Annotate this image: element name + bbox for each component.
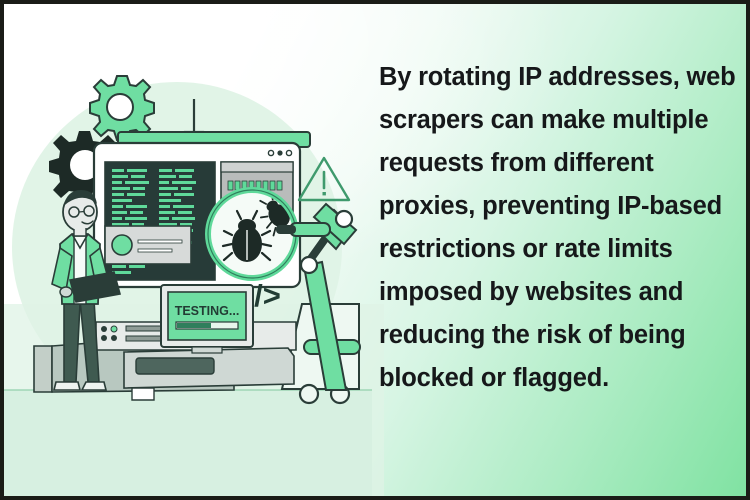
illustration: </> — [4, 4, 372, 496]
floor-ground — [4, 390, 372, 496]
testing-monitor-label: TESTING... — [175, 304, 240, 318]
image-canvas: </> — [0, 0, 750, 500]
warning-triangle-icon — [299, 158, 349, 200]
text-panel: By rotating IP addresses, web scrapers c… — [372, 4, 746, 496]
gear-green-icon — [90, 76, 154, 140]
image-inner-area: </> — [4, 4, 746, 496]
body-paragraph: By rotating IP addresses, web scrapers c… — [379, 56, 739, 400]
device-sub-panel — [105, 226, 191, 264]
testing-monitor: TESTING... — [161, 285, 253, 353]
